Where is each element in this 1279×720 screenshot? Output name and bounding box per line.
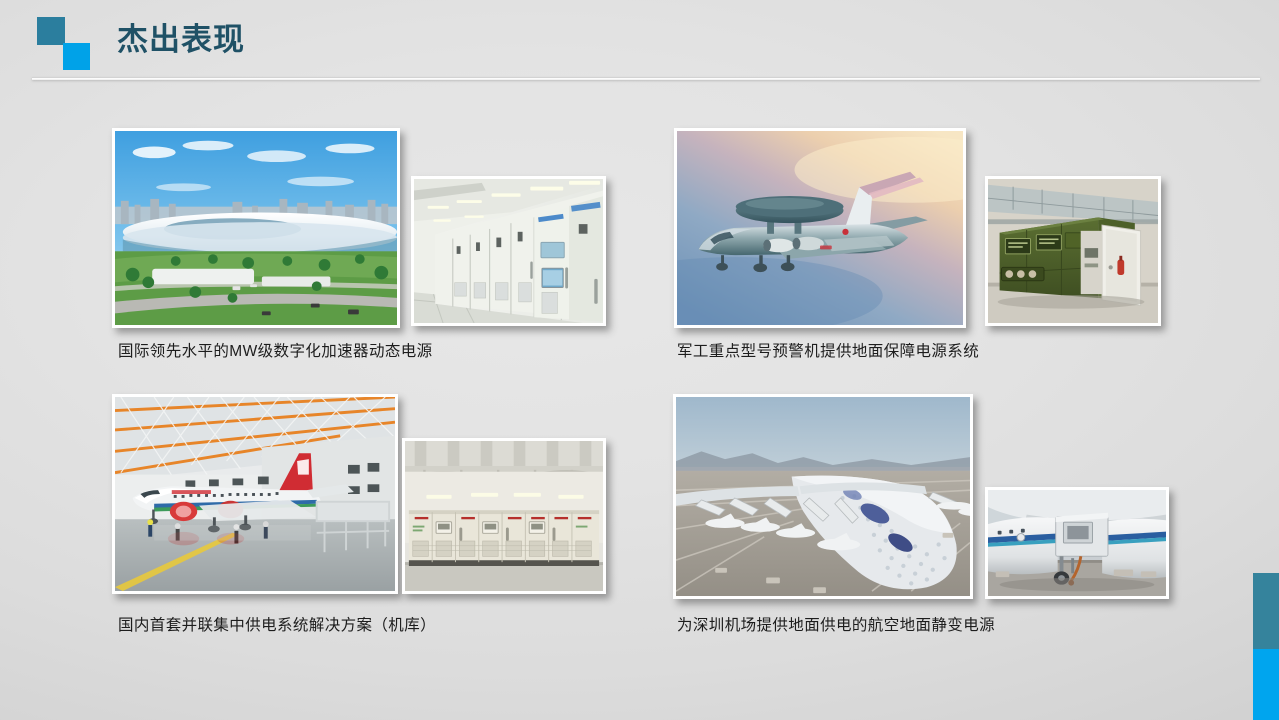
- caption-top-right: 军工重点型号预警机提供地面保障电源系统: [677, 342, 979, 362]
- accent-bar-bottom-segment: [1253, 649, 1279, 720]
- slide-header: 杰出表现: [0, 0, 1279, 92]
- showcase-block-top-right: 军工重点型号预警机提供地面保障电源系统: [668, 128, 1188, 388]
- switchgear-room-photo: [411, 176, 606, 326]
- showcase-block-bottom-right: 为深圳机场提供地面供电的航空地面静变电源: [668, 394, 1188, 656]
- aircraft-ground-power-photo: [985, 487, 1169, 599]
- caption-bottom-left: 国内首套并联集中供电系统解决方案（机库）: [118, 616, 436, 636]
- stadium-arena-photo: [112, 128, 400, 328]
- awacs-aircraft-photo: [674, 128, 966, 328]
- caption-bottom-right: 为深圳机场提供地面供电的航空地面静变电源: [677, 616, 995, 636]
- showcase-block-top-left: 国际领先水平的MW级数字化加速器动态电源: [108, 128, 628, 388]
- logo-mark: [37, 17, 107, 69]
- logo-square-dark-icon: [37, 17, 65, 45]
- slide-root: 杰出表现: [0, 0, 1279, 720]
- shenzhen-airport-terminal-photo: [673, 394, 973, 599]
- header-divider: [32, 77, 1260, 80]
- showcase-block-bottom-left: 国内首套并联集中供电系统解决方案（机库）: [108, 394, 628, 656]
- content-area: 国际领先水平的MW级数字化加速器动态电源: [0, 92, 1279, 720]
- accent-bar-top-segment: [1253, 573, 1279, 649]
- caption-top-left: 国际领先水平的MW级数字化加速器动态电源: [118, 342, 433, 362]
- military-green-shelter-photo: [985, 176, 1161, 326]
- right-accent-bar: [1253, 573, 1279, 720]
- aircraft-hangar-photo: [112, 394, 398, 594]
- logo-square-light-icon: [63, 43, 90, 70]
- power-cabinet-row-photo: [402, 438, 606, 594]
- page-title: 杰出表现: [117, 19, 245, 61]
